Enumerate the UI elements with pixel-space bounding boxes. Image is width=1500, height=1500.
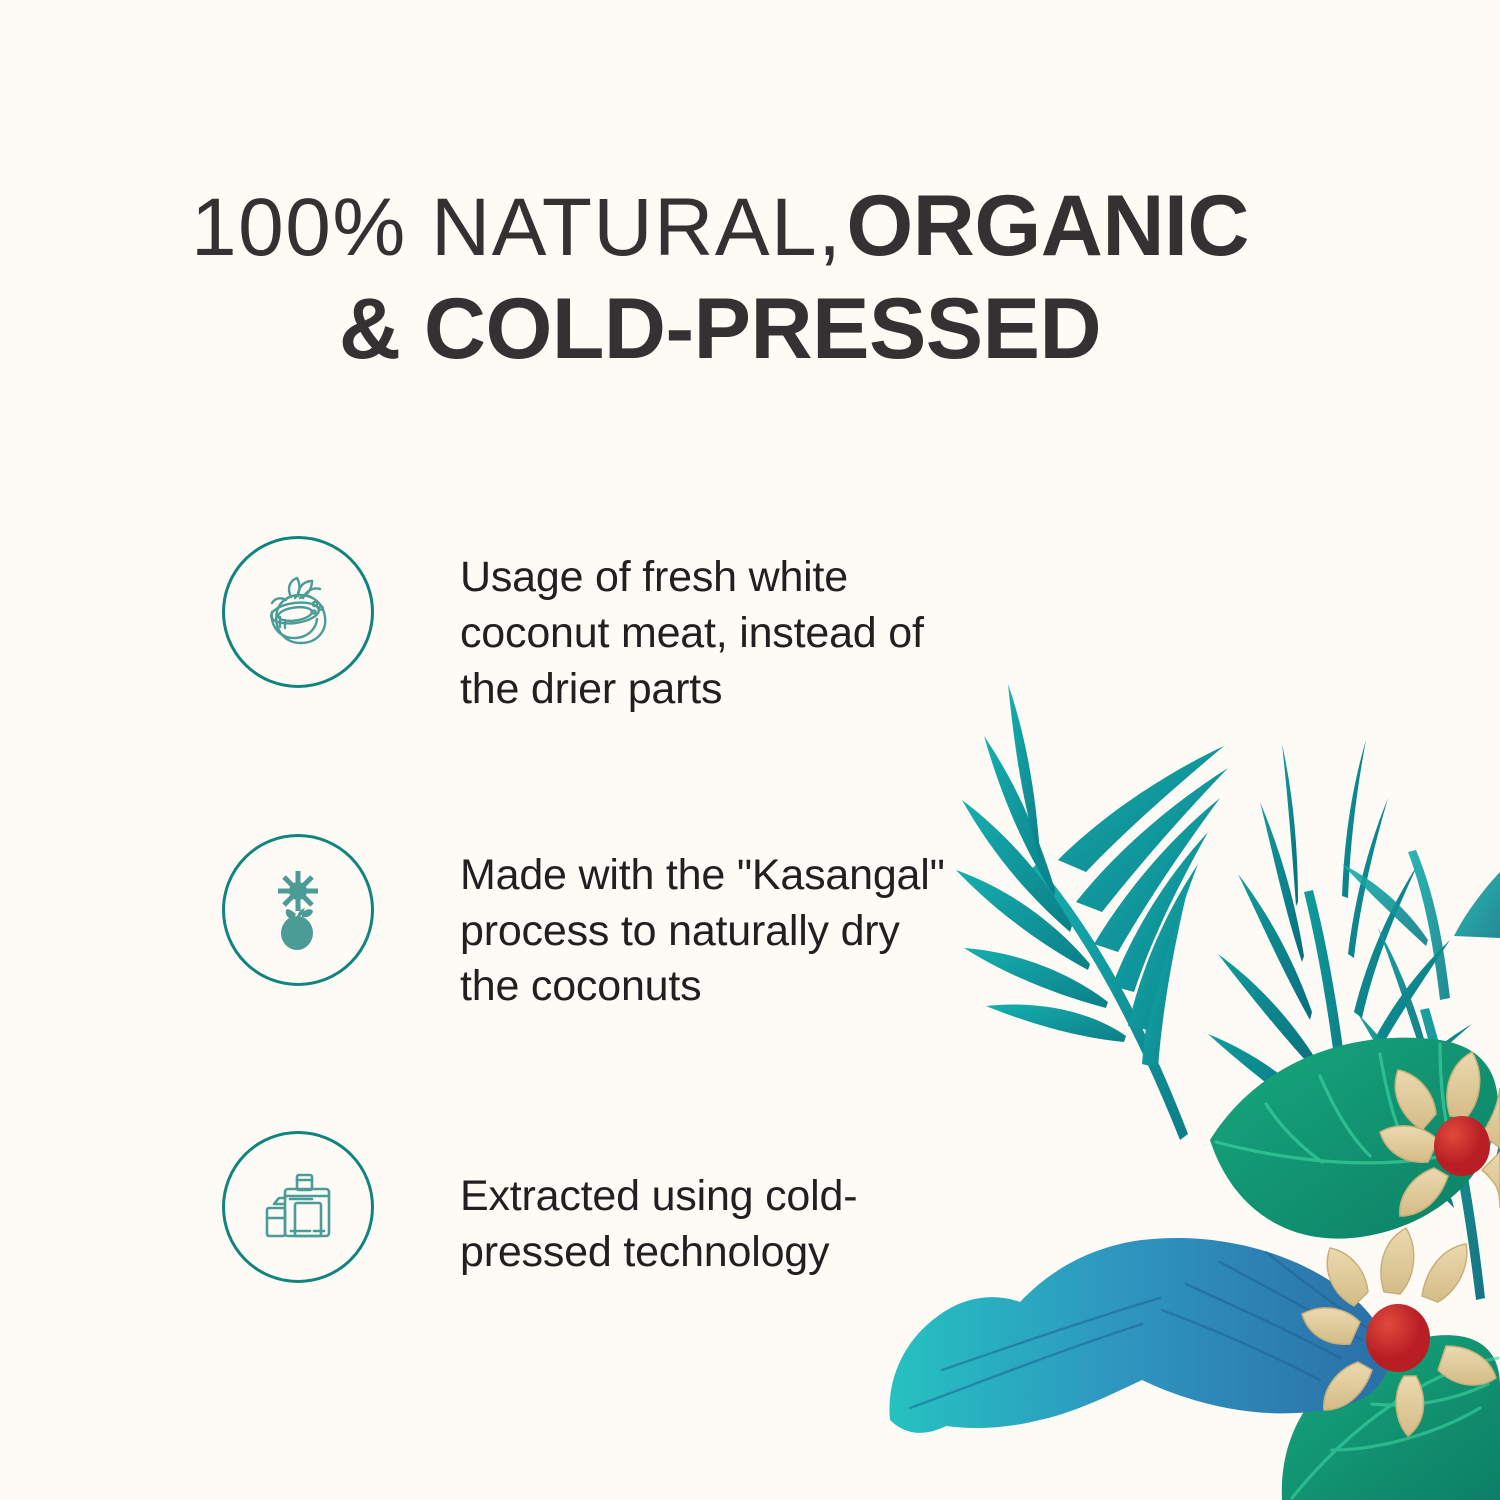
palm-frond-b: [1208, 740, 1472, 1220]
broad-leaf-lower: [1282, 1335, 1500, 1500]
palm-frond-c: [1346, 928, 1500, 1300]
list-item: Made with the "Kasangal" process to natu…: [222, 834, 962, 1016]
feature-text-2: Made with the "Kasangal" process to natu…: [460, 834, 962, 1016]
headline-line-2: & COLD-PRESSED: [0, 285, 1440, 374]
cream-flower-upper: [1380, 1052, 1500, 1216]
red-berry: [1366, 1304, 1430, 1372]
cream-flower-lower: [1302, 1228, 1496, 1436]
tropical-botanical-illustration: [880, 440, 1500, 1500]
feature-text-1: Usage of fresh white coconut meat, inste…: [460, 536, 962, 718]
list-item: Usage of fresh white coconut meat, inste…: [222, 536, 962, 718]
headline-natural-text: 100% NATURAL,: [191, 182, 842, 273]
coconut-half-icon: [253, 567, 343, 657]
feature-icon-circle-3: [222, 1131, 374, 1283]
broad-leaf-upper: [1210, 1038, 1498, 1239]
wavy-blue-leaf: [889, 1238, 1388, 1433]
red-berry: [1434, 1116, 1490, 1176]
sun-drying-coconut-icon: [255, 867, 341, 953]
feature-icon-circle-1: [222, 536, 374, 688]
palm-frond-a: [956, 684, 1228, 1140]
list-item: Extracted using cold-pressed technology: [222, 1131, 962, 1283]
feature-icon-circle-2: [222, 834, 374, 986]
headline-organic-text: ORGANIC: [846, 178, 1249, 274]
poster-canvas: 100% NATURAL, ORGANIC & COLD-PRESSED: [0, 0, 1500, 1500]
palm-frond-accent: [1342, 850, 1500, 1000]
cold-press-juicer-icon: [254, 1163, 342, 1251]
page-title: 100% NATURAL, ORGANIC & COLD-PRESSED: [0, 182, 1440, 375]
feature-text-3: Extracted using cold-pressed technology: [460, 1131, 962, 1281]
feature-list: Usage of fresh white coconut meat, inste…: [222, 536, 962, 1283]
headline-line-1: 100% NATURAL, ORGANIC: [0, 182, 1440, 271]
headline-cold-pressed-text: & COLD-PRESSED: [339, 281, 1101, 377]
